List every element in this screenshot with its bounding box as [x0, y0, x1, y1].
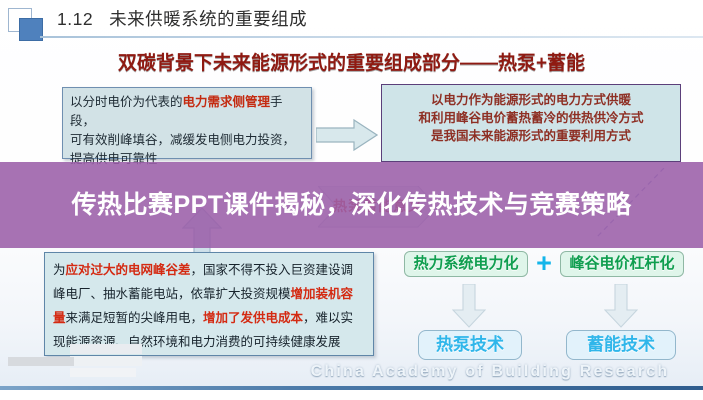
- pill-peak-valley-price-leverage[interactable]: 峰谷电价杠杆化: [560, 251, 684, 277]
- textbox-top-left-line2: 可有效削峰填谷，减缓发电侧电力投资，: [70, 131, 304, 150]
- overlay-banner-text: 传热比赛PPT课件揭秘，深化传热技术与竞赛策略: [0, 164, 703, 246]
- decorative-bar-4: [70, 368, 136, 377]
- textbox-top-right-line3: 是我国未来能源形式的重要利用方式: [390, 127, 672, 145]
- slide-canvas: 1.12 未来供暖系统的重要组成 双碳背景下未来能源形式的重要组成部分——热泵+…: [0, 0, 703, 400]
- main-heading: 双碳背景下未来能源形式的重要组成部分——热泵+蓄能: [0, 48, 703, 75]
- arrow-right-icon: [316, 118, 378, 152]
- textbox-top-right-line2: 和利用峰谷电价蓄热蓄冷的供热供冷方式: [390, 109, 672, 127]
- textbox-top-right-line1: 以电力作为能源形式的电力方式供暖: [390, 91, 672, 109]
- decorative-bar-2: [70, 344, 142, 354]
- pill-thermal-electrification[interactable]: 热力系统电力化: [404, 251, 528, 277]
- bl-hl3: 增加了发供电成本: [203, 311, 303, 325]
- watermark-text: China Academy of Building Research: [290, 363, 690, 381]
- page-title: 1.12 未来供暖系统的重要组成: [57, 6, 307, 31]
- textbox-top-left: 以分时电价为代表的电力需求侧管理手段， 可有效削峰填谷，减缓发电侧电力投资， 提…: [62, 87, 312, 159]
- arrow-down-icon-right: [604, 284, 638, 328]
- pill-energy-storage-technology[interactable]: 蓄能技术: [566, 330, 676, 360]
- bl-hl1: 应对过大的电网峰谷差: [66, 263, 191, 277]
- bl-seg3: 来满足短暂的尖峰用电，: [66, 311, 204, 325]
- decorative-bar-3: [70, 356, 142, 366]
- header-divider: [40, 36, 703, 38]
- plus-icon: +: [531, 248, 557, 278]
- pill-heat-pump-technology[interactable]: 热泵技术: [418, 330, 522, 360]
- arrow-down-icon-left: [452, 284, 486, 328]
- footer-fill: [0, 390, 703, 400]
- section-title: 未来供暖系统的重要组成: [109, 9, 307, 29]
- textbox-top-right: 以电力作为能源形式的电力方式供暖 和利用峰谷电价蓄热蓄冷的供热供冷方式 是我国未…: [381, 84, 681, 162]
- decorative-bar-1: [8, 357, 74, 366]
- section-number: 1.12: [57, 9, 93, 29]
- textbox-top-left-line1: 以分时电价为代表的电力需求侧管理手段，: [70, 93, 304, 131]
- tl-highlight: 电力需求侧管理: [183, 95, 271, 109]
- textbox-bottom-left: 为应对过大的电网峰谷差，国家不得不投入巨资建设调峰电厂、抽水蓄能电站，依靠扩大投…: [44, 252, 374, 356]
- tl-pre: 以分时电价为代表的: [70, 95, 183, 109]
- bl-seg1: 为: [53, 263, 66, 277]
